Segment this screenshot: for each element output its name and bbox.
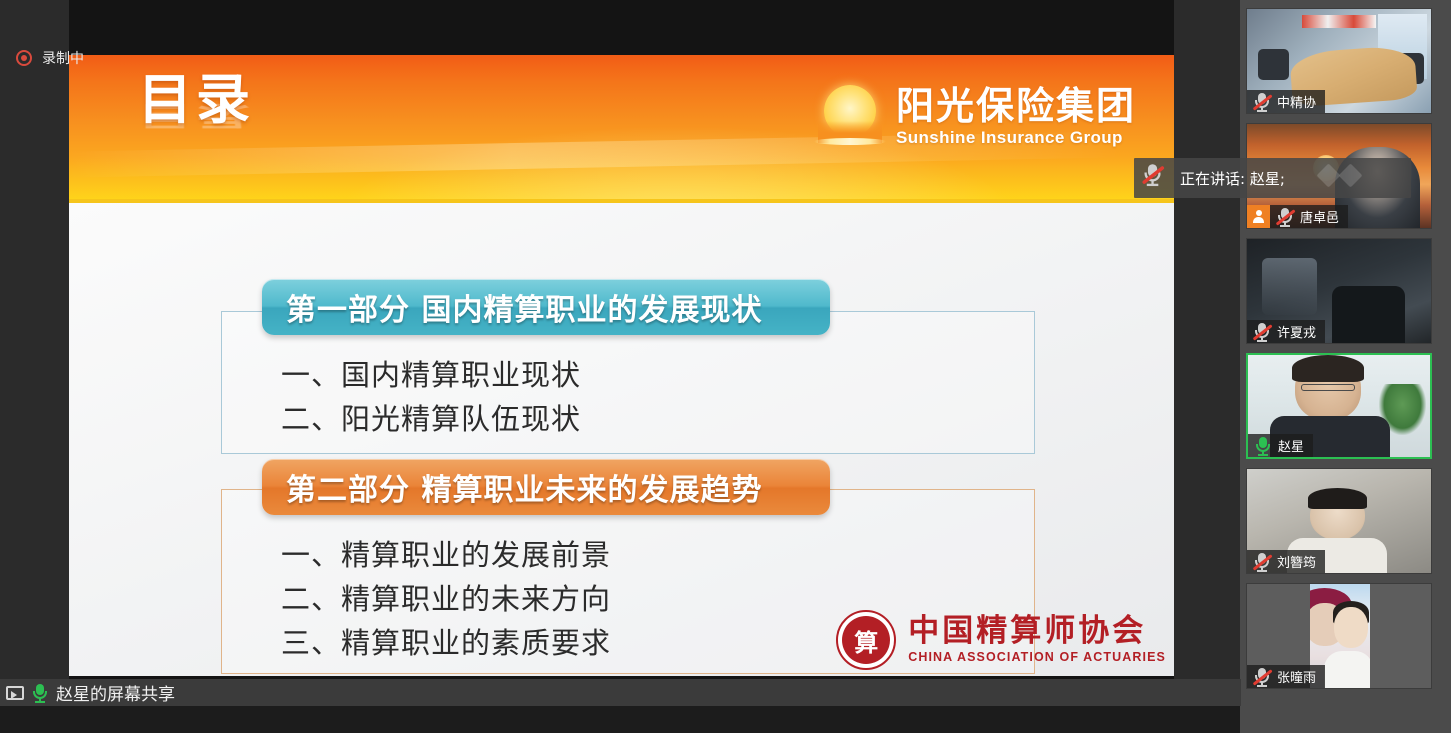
- caa-logo-name-en: CHINA ASSOCIATION OF ACTUARIES: [908, 651, 1166, 664]
- mic-muted-icon: [1253, 667, 1271, 687]
- section-2-header: 第二部分 精算职业未来的发展趋势: [262, 459, 830, 515]
- slide-banner: 目录 目录 阳光保险集团 Sunshine Insurance Group: [69, 55, 1174, 203]
- slide-body: 第一部分 国内精算职业的发展现状 一、国内精算职业现状 二、阳光精算队伍现状 第…: [69, 203, 1174, 676]
- sun-disc-shape: [824, 85, 876, 137]
- participant-filmstrip[interactable]: 中精协 唐卓邑 许夏戎: [1240, 0, 1451, 733]
- mic-muted-icon: [1276, 207, 1294, 227]
- mic-muted-icon: [1253, 552, 1271, 572]
- active-speaker-toast: 正在讲话: 赵星;: [1134, 158, 1411, 198]
- screen-share-icon: [6, 686, 24, 700]
- mic-muted-icon: [1253, 322, 1271, 342]
- participant-tile[interactable]: 刘簪筠: [1246, 468, 1432, 574]
- sunshine-sun-icon: [814, 83, 886, 149]
- participant-name: 中精协: [1277, 92, 1316, 111]
- host-badge-icon: [1247, 205, 1270, 228]
- sun-horizon-shape: [814, 138, 886, 145]
- participant-name: 张曈雨: [1277, 667, 1316, 686]
- sunshine-logo-name-en: Sunshine Insurance Group: [896, 129, 1136, 146]
- participant-tile[interactable]: 中精协: [1246, 8, 1432, 114]
- participant-name: 唐卓邑: [1300, 207, 1339, 226]
- list-item: 二、阳光精算队伍现状: [281, 397, 581, 441]
- screen-share-label: 赵星的屏幕共享: [56, 680, 175, 705]
- sunshine-insurance-logo: 阳光保险集团 Sunshine Insurance Group: [814, 83, 1136, 149]
- china-association-actuaries-logo: 算 中国精算师协会 CHINA ASSOCIATION OF ACTUARIES: [836, 610, 1166, 670]
- list-item: 二、精算职业的未来方向: [281, 577, 611, 621]
- participant-tile[interactable]: 赵星: [1246, 353, 1432, 459]
- caa-logo-text: 中国精算师协会 CHINA ASSOCIATION OF ACTUARIES: [908, 616, 1166, 664]
- slide-title: 目录: [138, 73, 254, 127]
- participant-nameplate: 唐卓邑: [1270, 205, 1348, 228]
- participant-tile[interactable]: 张曈雨: [1246, 583, 1432, 689]
- participant-nameplate: 中精协: [1247, 90, 1325, 113]
- caa-logo-name-cn: 中国精算师协会: [908, 616, 1166, 647]
- section-1-header: 第一部分 国内精算职业的发展现状: [262, 279, 830, 335]
- participant-name: 许夏戎: [1277, 322, 1316, 341]
- participant-nameplate: 许夏戎: [1247, 320, 1325, 343]
- caa-seal-glyph: 算: [854, 623, 878, 658]
- mic-muted-icon: [1253, 92, 1271, 112]
- sunshine-logo-name-cn: 阳光保险集团: [896, 87, 1136, 125]
- record-dot-icon: [16, 50, 32, 66]
- list-item: 一、国内精算职业现状: [281, 353, 581, 397]
- shared-slide: 目录 目录 阳光保险集团 Sunshine Insurance Group: [69, 55, 1174, 676]
- list-item: 一、精算职业的发展前景: [281, 533, 611, 577]
- share-stage: 目录 目录 阳光保险集团 Sunshine Insurance Group: [0, 0, 1241, 706]
- meeting-window: 目录 目录 阳光保险集团 Sunshine Insurance Group: [0, 0, 1451, 733]
- participant-name: 刘簪筠: [1277, 552, 1316, 571]
- recording-indicator[interactable]: 录制中: [16, 48, 84, 68]
- mic-muted-icon: [1142, 163, 1170, 193]
- screen-share-bar: 赵星的屏幕共享: [0, 679, 1241, 706]
- caa-seal-icon: 算: [836, 610, 896, 670]
- participant-name: 赵星: [1278, 436, 1304, 455]
- sunshine-logo-text: 阳光保险集团 Sunshine Insurance Group: [896, 87, 1136, 146]
- section-1-items: 一、国内精算职业现状 二、阳光精算队伍现状: [281, 353, 581, 441]
- mic-active-icon: [1254, 436, 1272, 456]
- list-item: 三、精算职业的素质要求: [281, 621, 611, 665]
- participant-tile[interactable]: 许夏戎: [1246, 238, 1432, 344]
- participant-nameplate: 赵星: [1248, 434, 1313, 457]
- active-speaker-text: 正在讲话: 赵星;: [1180, 168, 1285, 189]
- section-2-items: 一、精算职业的发展前景 二、精算职业的未来方向 三、精算职业的素质要求: [281, 533, 611, 665]
- recording-label: 录制中: [42, 48, 84, 68]
- toast-diamond-decoration: [1320, 167, 1359, 184]
- participant-nameplate: 张曈雨: [1247, 665, 1325, 688]
- participant-nameplate: 刘簪筠: [1247, 550, 1325, 573]
- mic-active-icon: [31, 683, 49, 703]
